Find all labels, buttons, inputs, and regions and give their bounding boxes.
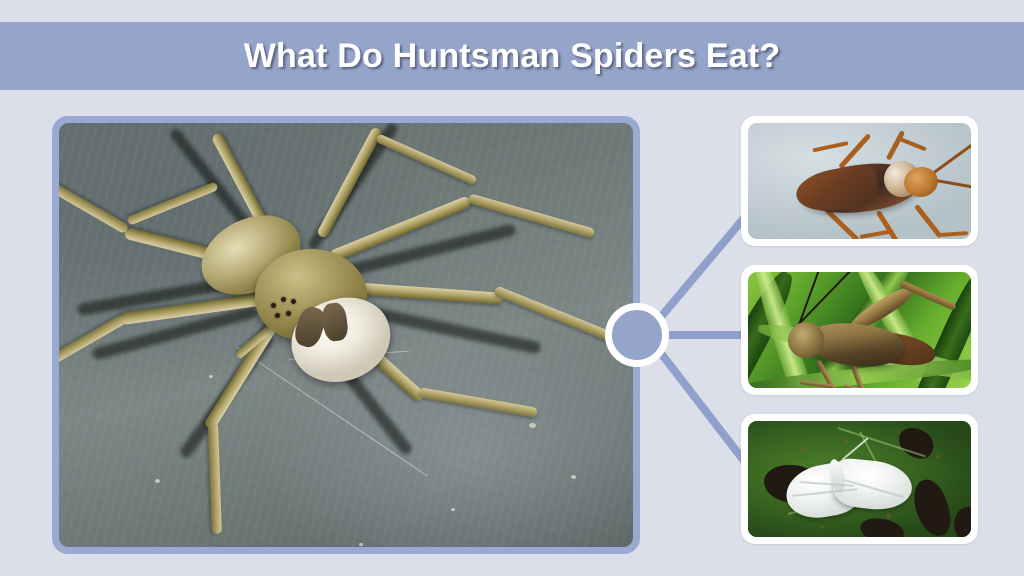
thumbnail-card-cricket[interactable] — [741, 265, 978, 395]
moth-image — [748, 421, 971, 537]
leaf-spot — [800, 447, 805, 452]
cockroach-image — [748, 123, 971, 239]
leaf-spot — [936, 455, 940, 459]
leaf-spot — [820, 525, 824, 529]
thumbnail-card-moth[interactable] — [741, 414, 978, 544]
leaf-spot — [886, 513, 891, 518]
connector-hub-to-moth — [660, 352, 748, 466]
connector-hub-to-cockroach — [660, 218, 744, 318]
cricket-head — [788, 322, 824, 358]
cricket-image — [748, 272, 971, 388]
slide-canvas: What Do Huntsman Spiders Eat? — [0, 0, 1024, 576]
thumbnail-card-cockroach[interactable] — [741, 116, 978, 246]
leaf-spot — [844, 439, 848, 443]
hub-node[interactable] — [605, 303, 669, 367]
